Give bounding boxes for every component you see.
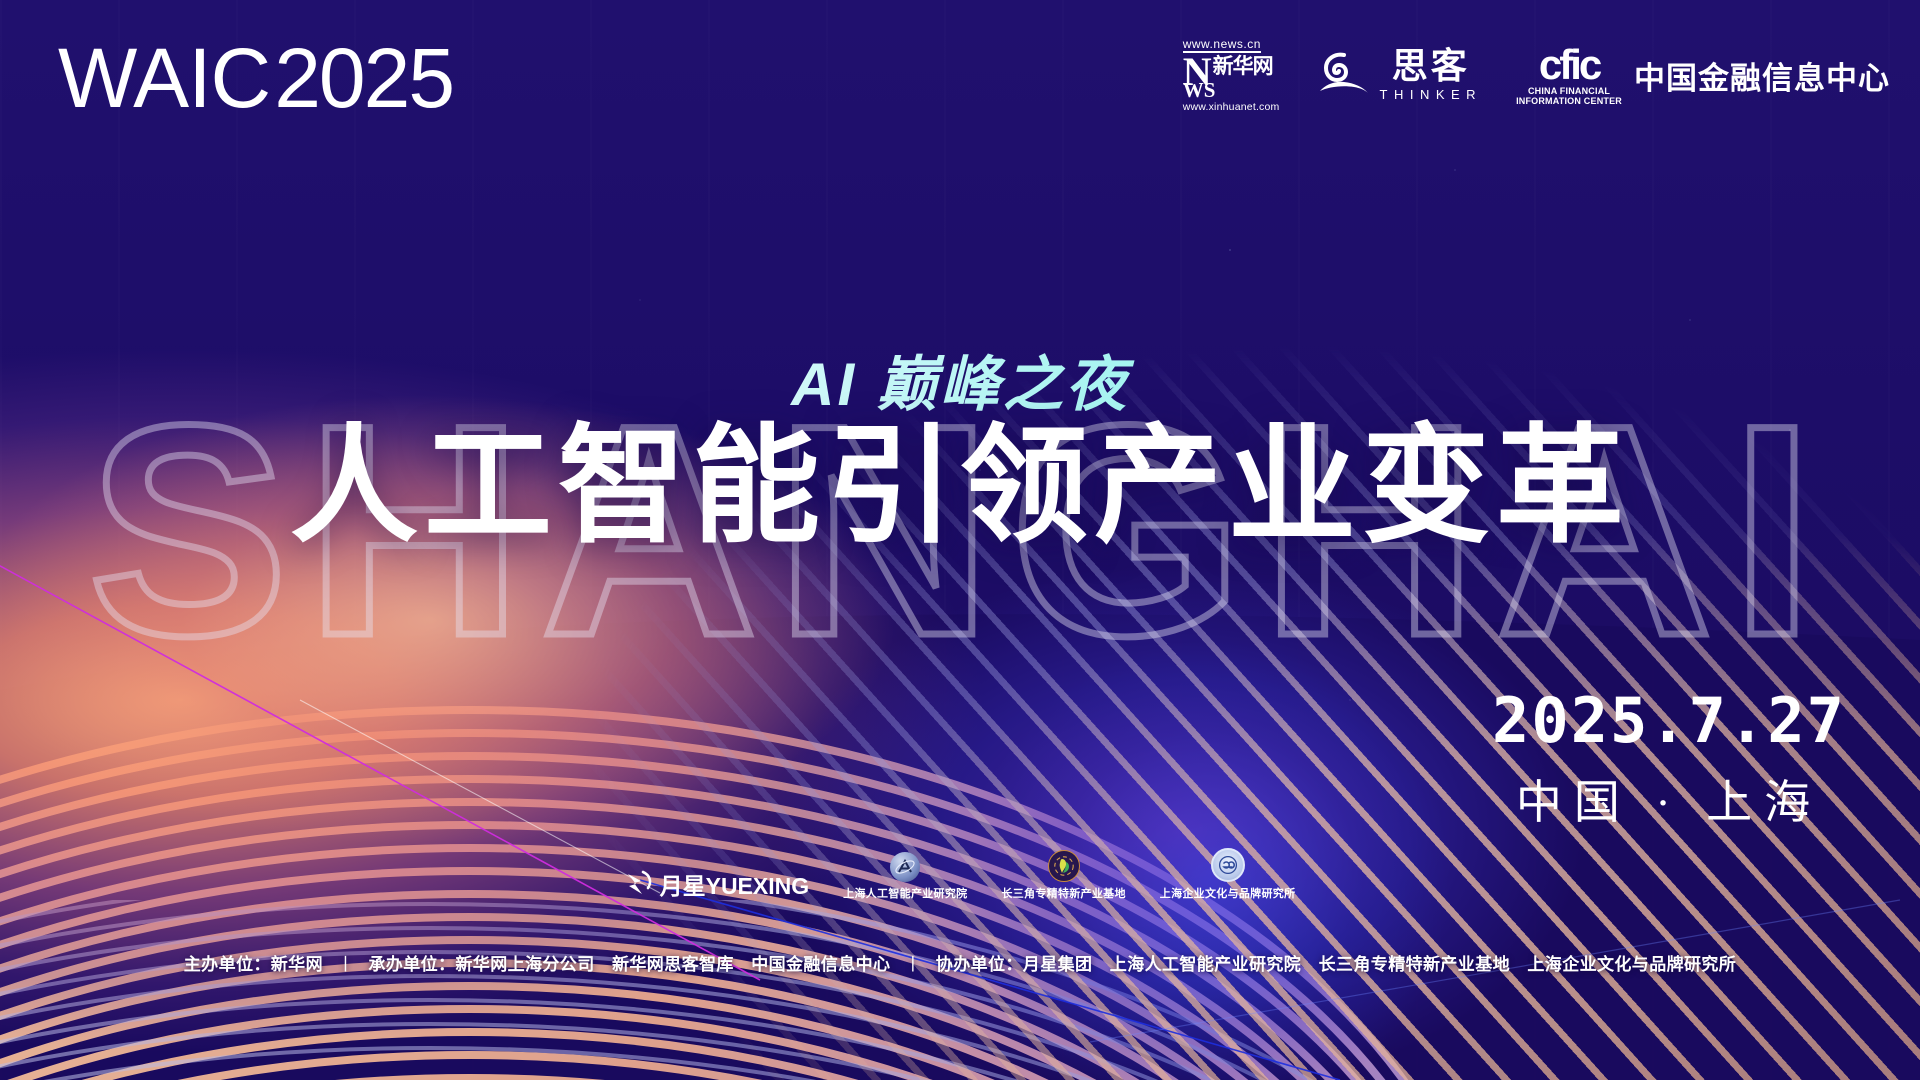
yuexing-star-icon (625, 870, 655, 898)
cfic-sub-line2: INFORMATION CENTER (1516, 96, 1622, 106)
waic-logo: WAIC 2025 (58, 36, 453, 120)
footer-host-value: 新华网 (271, 955, 323, 974)
footer-organizer-value: 新华网上海分公司 新华网思客智库 中国金融信息中心 (455, 955, 890, 974)
xinhua-cn-name: 新华网 (1213, 56, 1273, 77)
footer-coorganizer-value: 月星集团 上海人工智能产业研究院 长三角专精特新产业基地 上海企业文化与品牌研究… (1023, 955, 1736, 974)
sponsor-corp-culture-brand-label: 上海企业文化与品牌研究所 (1160, 885, 1296, 901)
footer-separator-2: 丨 (904, 955, 921, 974)
partner-logo-cfic: cfic CHINA FINANCIAL INFORMATION CENTER … (1516, 45, 1890, 106)
event-subtitle: AI 巅峰之夜 (0, 336, 1920, 423)
xinhua-url-bottom: www.xinhuanet.com (1183, 102, 1280, 113)
sponsor-yuexing: 月星YUEXING (625, 867, 810, 901)
shanghai-ai-institute-icon (890, 852, 920, 882)
yrd-sme-base-icon (1048, 850, 1080, 882)
waic-wordmark: WAIC (58, 36, 270, 120)
partner-logo-thinker: 思客 THINKER (1314, 47, 1483, 103)
xinhua-ws-letters: WS (1183, 80, 1216, 101)
corp-culture-brand-icon (1211, 848, 1245, 882)
event-headline: 人工智能引领产业变革 (0, 420, 1920, 554)
cfic-sub-line1: CHINA FINANCIAL (1528, 86, 1610, 96)
footer-organizer-label: 承办单位： (368, 955, 455, 974)
sponsor-shanghai-ai-institute-label: 上海人工智能产业研究院 (843, 885, 967, 901)
sponsor-logo-strip: 月星YUEXING 上海人工智能产业研究院 长三角专精特新产业基地 (0, 848, 1920, 901)
footer-credits: 主办单位：新华网丨承办单位：新华网上海分公司 新华网思客智库 中国金融信息中心丨… (0, 950, 1920, 975)
thinker-cn-name: 思客 (1392, 48, 1470, 84)
partner-logo-xinhuanet: www.news.cn N 新华网 WS www.xinhuanet.com (1183, 38, 1280, 113)
date-location-block: 2025.7.27 中国 · 上海 (1492, 690, 1846, 826)
thinker-swirl-icon (1314, 47, 1372, 103)
waic-year: 2025 (274, 36, 453, 120)
sponsor-shanghai-ai-institute: 上海人工智能产业研究院 (843, 852, 967, 901)
sponsor-yrd-sme-base: 长三角专精特新产业基地 (1001, 850, 1125, 901)
footer-separator-1: 丨 (337, 955, 354, 974)
cfic-letters: cfic (1539, 45, 1599, 85)
cfic-cn-name: 中国金融信息中心 (1634, 53, 1890, 98)
partner-logo-row: www.news.cn N 新华网 WS www.xinhuanet.com 思… (1183, 38, 1890, 113)
footer-host-label: 主办单位： (184, 955, 271, 974)
sponsor-yrd-sme-base-label: 长三角专精特新产业基地 (1001, 885, 1125, 901)
thinker-en-name: THINKER (1380, 87, 1483, 102)
sponsor-corp-culture-brand: 上海企业文化与品牌研究所 (1160, 848, 1296, 901)
event-poster: SHANGHAI WAIC 2025 www.news.cn N 新华网 WS … (0, 0, 1920, 1080)
footer-coorganizer-label: 协办单位： (936, 955, 1023, 974)
event-city: 中国 · 上海 (1492, 780, 1846, 826)
sponsor-yuexing-label: 月星YUEXING (660, 867, 810, 901)
event-date: 2025.7.27 (1492, 690, 1846, 752)
